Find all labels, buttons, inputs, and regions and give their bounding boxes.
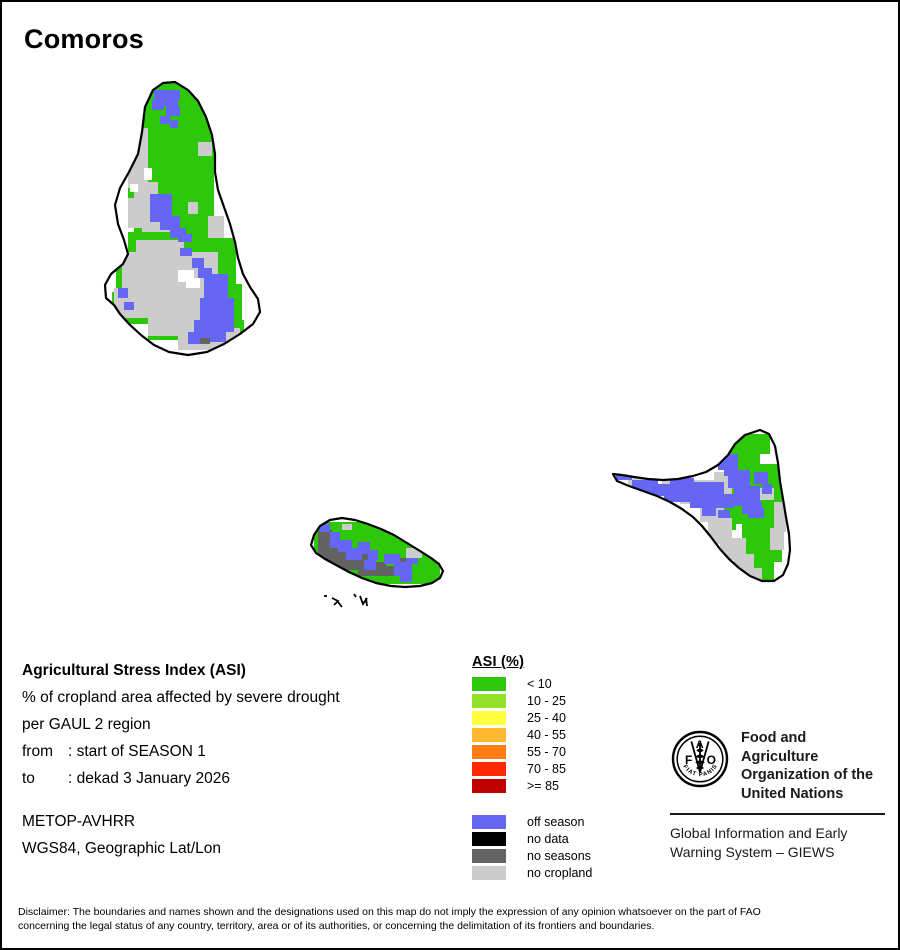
- fao-logo-icon: F A O FIAT PANIS: [670, 729, 730, 789]
- info-to-row: to: dekad 3 January 2026: [22, 765, 452, 792]
- legend-label: 10 - 25: [527, 694, 566, 708]
- legend-row: 55 - 70: [472, 743, 642, 760]
- legend-title: ASI (%): [472, 654, 642, 670]
- legend-row: 25 - 40: [472, 709, 642, 726]
- legend-swatch: [472, 762, 506, 776]
- giews-name: Global Information and Early Warning Sys…: [670, 824, 885, 862]
- legend-row: no seasons: [472, 847, 642, 864]
- info-subtitle-2: per GAUL 2 region: [22, 711, 452, 738]
- islets: [324, 594, 367, 607]
- info-to-value: : dekad 3 January 2026: [68, 770, 230, 787]
- legend-label: 70 - 85: [527, 762, 566, 776]
- disclaimer-line-1: Disclaimer: The boundaries and names sho…: [18, 905, 878, 919]
- fao-branding-block: F A O FIAT PANIS Food and Agriculture Or…: [670, 729, 885, 862]
- legend-swatch: [472, 745, 506, 759]
- legend-label: 25 - 40: [527, 711, 566, 725]
- info-from-key: from: [22, 738, 68, 765]
- legend-swatch: [472, 728, 506, 742]
- disclaimer: Disclaimer: The boundaries and names sho…: [18, 905, 878, 933]
- legend-label: < 10: [527, 677, 552, 691]
- legend-label: off season: [527, 815, 584, 829]
- legend-swatch: [472, 779, 506, 793]
- legend-label: no cropland: [527, 866, 592, 880]
- island-grande-comore: [102, 72, 282, 372]
- asi-map-page: Comoros: [0, 0, 900, 950]
- legend-label: 40 - 55: [527, 728, 566, 742]
- legend-swatch: [472, 711, 506, 725]
- map-info-block: Agricultural Stress Index (ASI) % of cro…: [22, 657, 452, 862]
- info-from-value: : start of SEASON 1: [68, 743, 206, 760]
- legend-row: >= 85: [472, 777, 642, 794]
- fao-name-line-2: Organization of the: [741, 766, 885, 785]
- fao-name: Food and Agriculture Organization of the…: [741, 729, 885, 803]
- island-anjouan: [602, 422, 812, 597]
- fao-name-line-3: United Nations: [741, 785, 885, 804]
- legend-row: < 10: [472, 675, 642, 692]
- legend-swatch: [472, 866, 506, 880]
- giews-line-1: Global Information and Early: [670, 824, 885, 843]
- legend-row: no data: [472, 830, 642, 847]
- info-heading: Agricultural Stress Index (ASI): [22, 657, 452, 684]
- fao-divider: [670, 813, 885, 815]
- fao-logo-letter-a: A: [696, 739, 704, 751]
- legend-row: 40 - 55: [472, 726, 642, 743]
- legend-swatch: [472, 677, 506, 691]
- legend-row: no cropland: [472, 864, 642, 881]
- legend-row: 70 - 85: [472, 760, 642, 777]
- info-projection: WGS84, Geographic Lat/Lon: [22, 835, 452, 862]
- legend-swatch: [472, 815, 506, 829]
- legend-row: 10 - 25: [472, 692, 642, 709]
- fao-header: F A O FIAT PANIS Food and Agriculture Or…: [670, 729, 885, 803]
- island-moheli: [302, 507, 462, 607]
- map-legend: ASI (%) < 10 10 - 25 25 - 40 40 - 55 55 …: [472, 654, 642, 881]
- legend-row: off season: [472, 813, 642, 830]
- info-from-row: from: start of SEASON 1: [22, 738, 452, 765]
- disclaimer-line-2: concerning the legal status of any count…: [18, 919, 878, 933]
- legend-label: >= 85: [527, 779, 559, 793]
- info-to-key: to: [22, 765, 68, 792]
- legend-label: no seasons: [527, 849, 591, 863]
- legend-gap: [472, 794, 642, 813]
- info-spacer: [22, 792, 452, 808]
- legend-swatch: [472, 694, 506, 708]
- legend-label: no data: [527, 832, 569, 846]
- legend-label: 55 - 70: [527, 745, 566, 759]
- giews-line-2: Warning System – GIEWS: [670, 843, 885, 862]
- legend-swatch: [472, 832, 506, 846]
- map-canvas: [2, 2, 900, 642]
- info-sensor: METOP-AVHRR: [22, 808, 452, 835]
- fao-name-line-1: Food and Agriculture: [741, 729, 885, 766]
- info-subtitle-1: % of cropland area affected by severe dr…: [22, 684, 452, 711]
- legend-swatch: [472, 849, 506, 863]
